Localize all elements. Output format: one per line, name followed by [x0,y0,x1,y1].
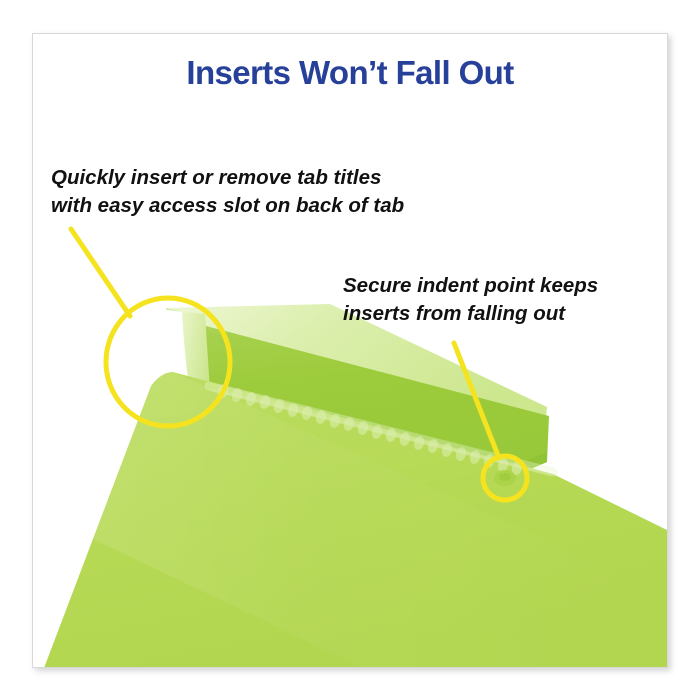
highlight-circle-right [483,456,527,500]
callout-indent-point-line2: inserts from falling out [343,300,598,328]
leader-line-left [71,229,130,316]
screenshot-root: Inserts Won’t Fall Out Quickly insert or… [0,0,700,700]
callout-access-slot-line1: Quickly insert or remove tab titles [51,164,404,192]
callout-markers-layer [33,34,668,668]
callout-access-slot: Quickly insert or remove tab titles with… [51,164,404,220]
callout-access-slot-line2: with easy access slot on back of tab [51,192,404,220]
leader-line-right [454,343,499,458]
callout-marker-access-slot [71,229,230,426]
callout-indent-point: Secure indent point keeps inserts from f… [343,272,598,328]
callout-marker-indent-point [454,343,527,500]
callout-indent-point-line1: Secure indent point keeps [343,272,598,300]
highlight-circle-left [106,298,230,426]
product-photo-card: Inserts Won’t Fall Out Quickly insert or… [32,33,668,668]
